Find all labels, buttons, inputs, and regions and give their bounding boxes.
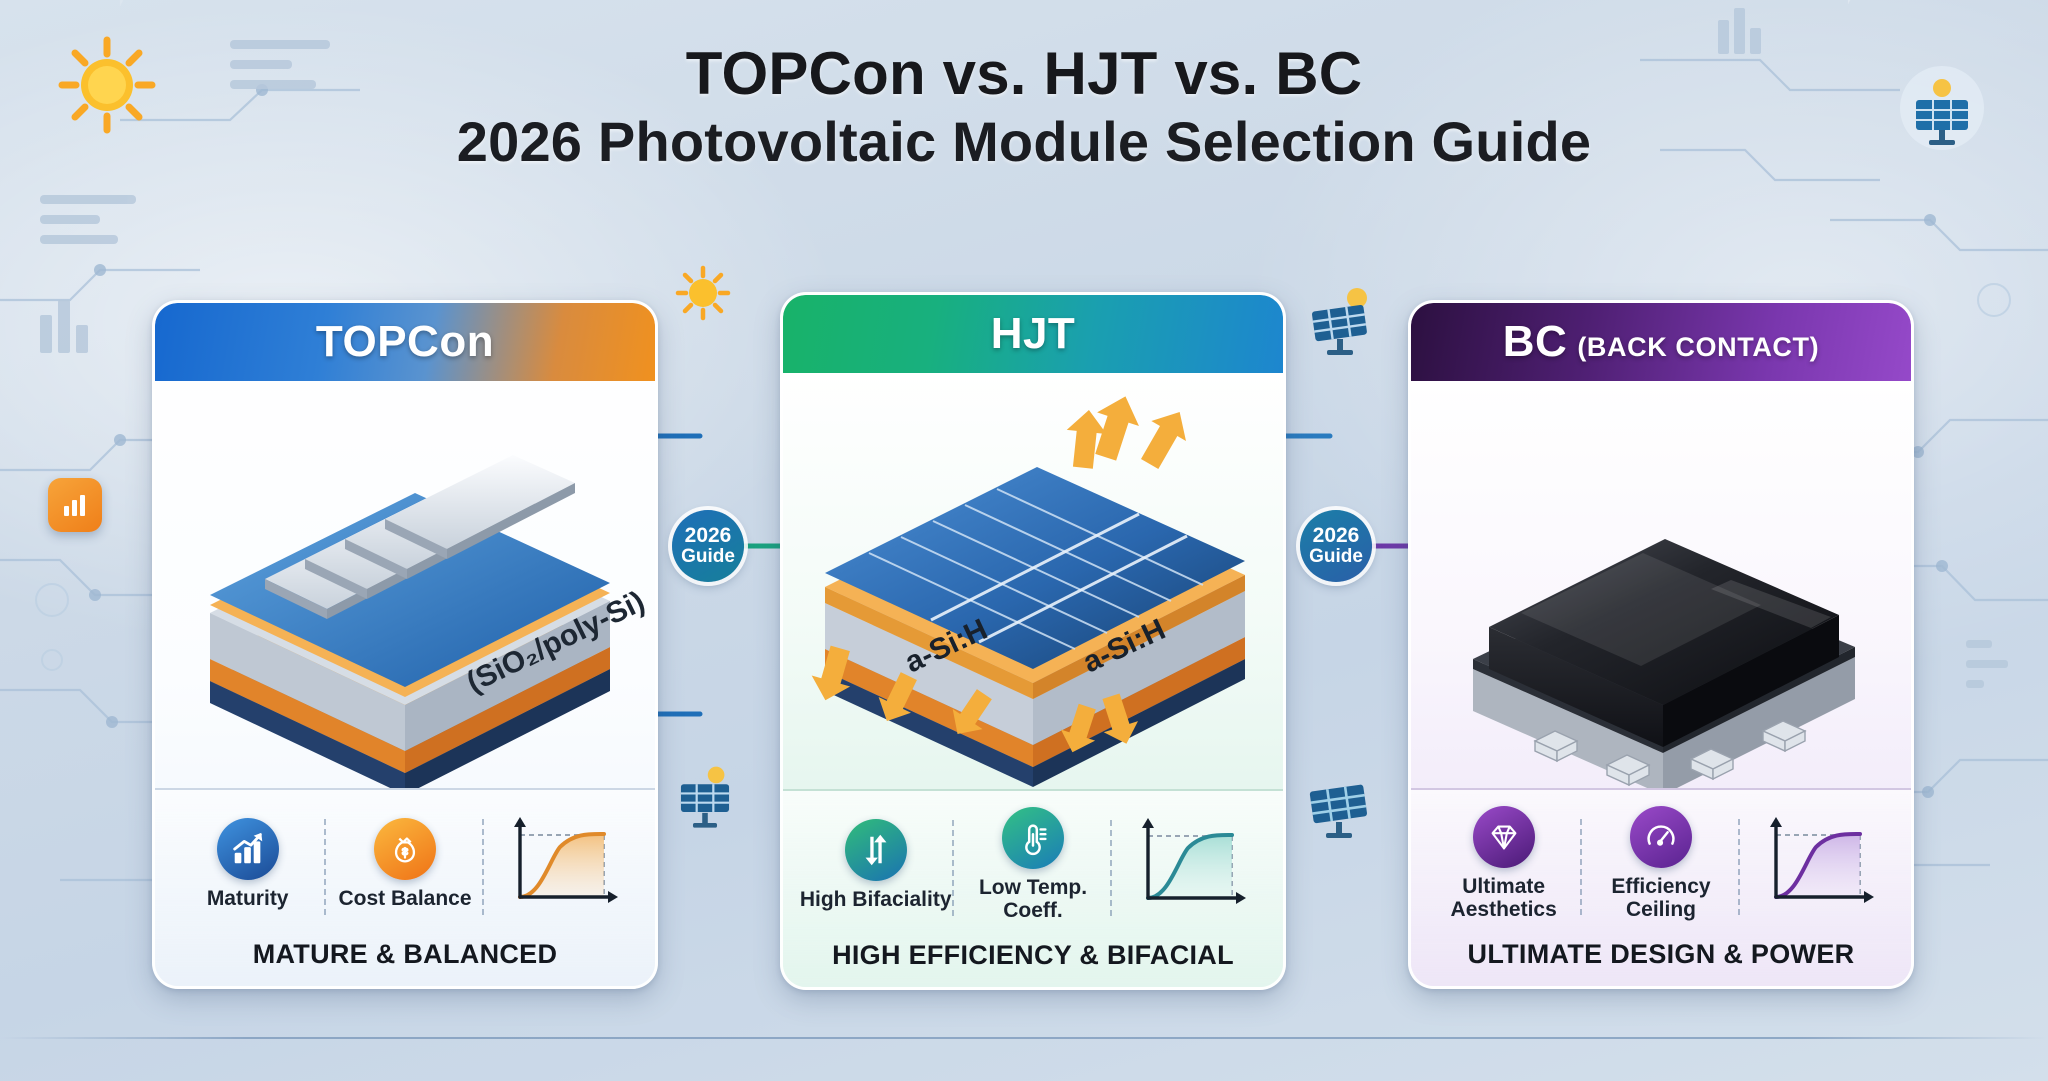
feature-efficiency-ceiling[interactable]: Efficiency Ceiling: [1584, 806, 1737, 921]
money-bag-icon: [374, 818, 436, 880]
mini-line-chart-hjt: [1126, 814, 1254, 916]
connector-badge-right[interactable]: 2026 Guide: [1300, 510, 1372, 582]
card-footer-bc: Ultimate Aesthetics Efficiency Ceiling: [1411, 788, 1911, 986]
growth-chart-icon: [217, 818, 279, 880]
card-title-topcon: TOPCon: [316, 317, 494, 367]
feature-label: High Bifaciality: [800, 889, 952, 912]
badge-line-2: Guide: [681, 547, 735, 567]
badge-line-1: 2026: [1313, 525, 1360, 547]
card-header-hjt: HJT: [783, 295, 1283, 373]
topcon-cell-diagram: (SiO₂/poly-Si): [155, 381, 655, 788]
feature-label: Ultimate Aesthetics: [1427, 876, 1580, 921]
card-tagline-bc: ULTIMATE DESIGN & POWER: [1411, 930, 1911, 986]
badge-line-1: 2026: [685, 525, 732, 547]
feature-high-bifaciality[interactable]: High Bifaciality: [799, 819, 952, 912]
bottom-rule: [0, 1037, 2048, 1039]
feature-label: Maturity: [207, 888, 289, 911]
feature-maturity[interactable]: Maturity: [171, 818, 324, 911]
title-line-1: TOPCon vs. HJT vs. BC: [0, 42, 2048, 107]
badge-line-2: Guide: [1309, 547, 1363, 567]
feature-performance-chart: [1742, 813, 1895, 915]
card-footer-hjt: High Bifaciality Low Temp. Coeff.: [783, 789, 1283, 987]
card-title-bc: BC (BACK CONTACT): [1503, 317, 1819, 367]
feature-performance-chart: [486, 813, 639, 915]
feature-label: Low Temp. Coeff.: [956, 877, 1109, 922]
card-body-hjt: a-Si:H a-Si:H: [783, 373, 1283, 789]
card-title-suffix: (BACK CONTACT): [1577, 332, 1819, 363]
card-title-hjt: HJT: [991, 309, 1076, 359]
thermometer-icon: [1002, 807, 1064, 869]
solar-panel-icon: [668, 762, 742, 836]
connector-badge-left[interactable]: 2026 Guide: [672, 510, 744, 582]
feature-row-topcon: Maturity Cost Balance: [155, 790, 655, 930]
solar-panel-sun-icon: [1300, 282, 1380, 362]
bidirectional-arrows-icon: [845, 819, 907, 881]
diamond-icon: [1473, 806, 1535, 868]
card-header-bc: BC (BACK CONTACT): [1411, 303, 1911, 381]
card-bc[interactable]: BC (BACK CONTACT): [1408, 300, 1914, 989]
card-hjt[interactable]: HJT: [780, 292, 1286, 990]
solar-panel-icon: [1298, 766, 1378, 846]
sun-icon: [672, 262, 734, 324]
card-topcon[interactable]: TOPCon: [152, 300, 658, 989]
title-line-2: 2026 Photovoltaic Module Selection Guide: [0, 111, 2048, 174]
card-title-text: HJT: [991, 309, 1076, 359]
feature-low-temp-coeff[interactable]: Low Temp. Coeff.: [956, 807, 1109, 922]
feature-cost-balance[interactable]: Cost Balance: [328, 818, 481, 911]
page-title: TOPCon vs. HJT vs. BC 2026 Photovoltaic …: [0, 42, 2048, 174]
card-body-bc: [1411, 381, 1911, 788]
speedometer-icon: [1630, 806, 1692, 868]
mini-line-chart-topcon: [498, 813, 626, 915]
card-footer-topcon: Maturity Cost Balance: [155, 788, 655, 986]
card-title-text: BC: [1503, 317, 1568, 367]
mini-line-chart-bc: [1754, 813, 1882, 915]
feature-ultimate-aesthetics[interactable]: Ultimate Aesthetics: [1427, 806, 1580, 921]
feature-performance-chart: [1114, 814, 1267, 916]
card-tagline-topcon: MATURE & BALANCED: [155, 930, 655, 986]
feature-row-bc: Ultimate Aesthetics Efficiency Ceiling: [1411, 790, 1911, 930]
hjt-cell-diagram: a-Si:H a-Si:H: [783, 373, 1283, 789]
card-body-topcon: (SiO₂/poly-Si): [155, 381, 655, 788]
feature-label: Cost Balance: [338, 888, 471, 911]
bar-chart-icon: [48, 478, 102, 532]
card-title-text: TOPCon: [316, 317, 494, 367]
card-header-topcon: TOPCon: [155, 303, 655, 381]
feature-row-hjt: High Bifaciality Low Temp. Coeff.: [783, 791, 1283, 931]
card-tagline-hjt: HIGH EFFICIENCY & BIFACIAL: [783, 931, 1283, 987]
bc-cell-diagram: [1411, 381, 1911, 788]
feature-label: Efficiency Ceiling: [1584, 876, 1737, 921]
